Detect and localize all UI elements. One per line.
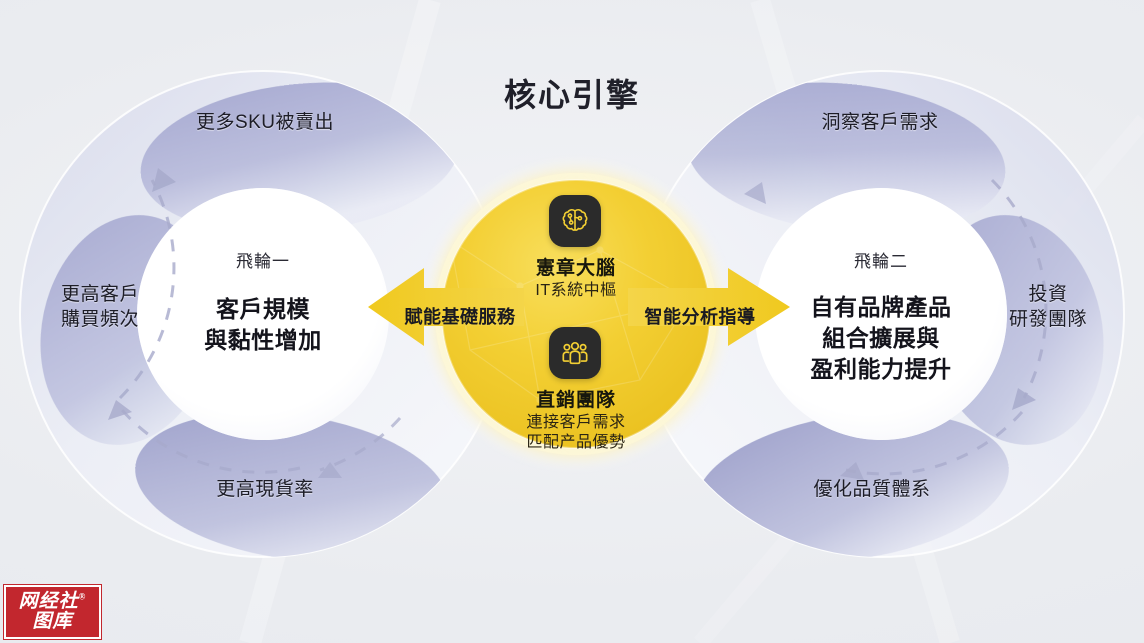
people-group-icon [549,327,601,379]
registered-icon: ® [79,592,87,602]
flywheel-right-kicker: 飛輪二 [771,252,991,273]
diagram-canvas: 核心引擎 更多SKU被賣出 更高客戶 購買頻次 更高現貨率 飛輪一 客戶規模 與… [0,0,1144,643]
watermark-line1-text: 网经社 [19,591,79,612]
core-top-name: 憲章大腦 [476,257,676,280]
flywheel-left-title-line2: 與黏性增加 [143,325,383,355]
watermark-logo: 网经社® 图库 [4,585,101,639]
arrow-right-label: 智能分析指導 [620,307,780,329]
page-title: 核心引擎 [0,76,1144,115]
left-ring-label-top: 更多SKU被賣出 [140,111,390,134]
core-bottom-subtitle-line2: 匹配产品優勢 [476,433,676,453]
watermark-line2: 图库 [32,612,72,632]
core-top-subtitle: IT系統中樞 [476,281,676,301]
arrow-left-label: 賦能基礎服務 [380,307,540,329]
core-bottom-name: 直銷團隊 [476,389,676,412]
watermark-line1: 网经社® [19,592,87,612]
core-bottom-subtitle-line1: 連接客戶需求 [476,413,676,433]
flywheel-left-kicker: 飛輪一 [153,252,373,273]
brain-glyph [558,204,592,238]
flywheel-left-title-line1: 客戶規模 [143,294,383,324]
people-group-glyph [558,336,592,370]
flywheel-right-title-line1: 自有品牌產品 [761,292,1001,322]
left-ring-label-bottom: 更高現貨率 [155,478,375,501]
flywheel-right-title-line3: 盈利能力提升 [761,354,1001,384]
right-ring-label-top: 洞察客戶需求 [760,111,1000,134]
flywheel-right-title-line2: 組合擴展與 [761,323,1001,353]
brain-icon [549,195,601,247]
right-ring-label-bottom: 優化品質體系 [762,478,982,501]
